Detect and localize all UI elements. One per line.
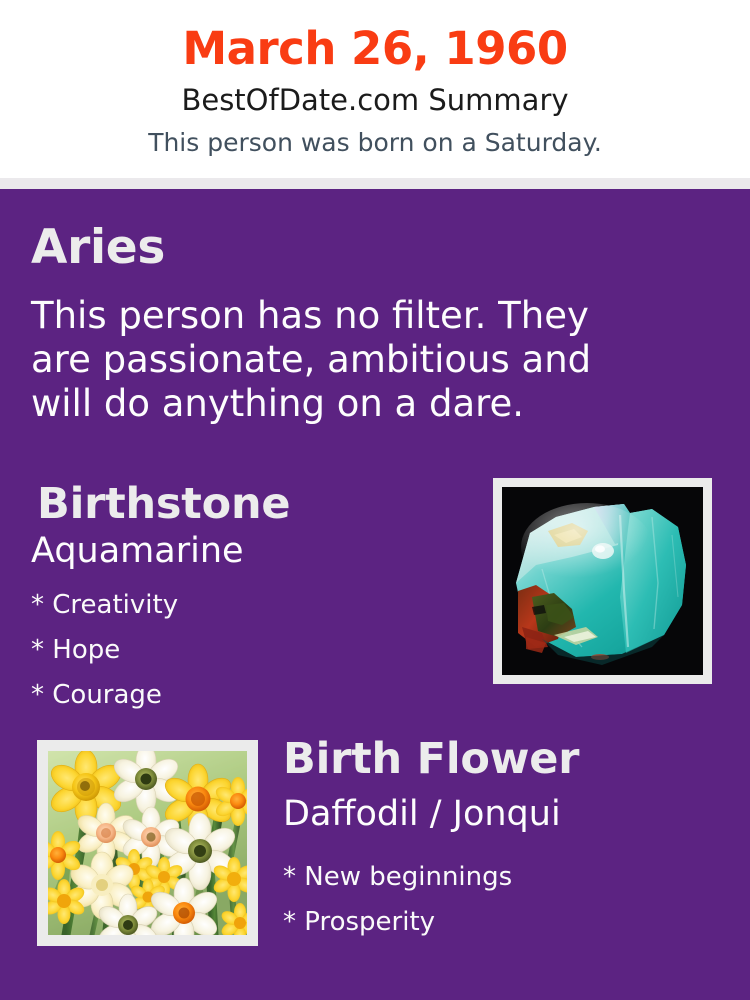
birthstone-trait-list: * Creativity * Hope * Courage bbox=[31, 583, 451, 718]
birthstone-photo-frame bbox=[493, 478, 712, 684]
list-item: * Courage bbox=[31, 673, 451, 718]
weekday-statement: This person was born on a Saturday. bbox=[0, 130, 750, 155]
list-item: * New beginnings bbox=[283, 855, 723, 900]
zodiac-sign-heading: Aries bbox=[31, 224, 165, 271]
birth-flower-heading: Birth Flower bbox=[283, 738, 579, 781]
aquamarine-crystal-icon bbox=[502, 487, 703, 675]
header-divider bbox=[0, 178, 750, 189]
page-title-date: March 26, 1960 bbox=[0, 26, 750, 71]
site-name-subtitle: BestOfDate.com Summary bbox=[0, 86, 750, 115]
birthstone-heading: Birthstone bbox=[37, 483, 290, 526]
zodiac-description: This person has no filter. They are pass… bbox=[31, 294, 651, 426]
birthday-summary-card: March 26, 1960 BestOfDate.com Summary Th… bbox=[0, 0, 750, 1000]
birth-flower-name: Daffodil / Jonqui bbox=[283, 797, 561, 832]
daffodil-flowers-icon bbox=[48, 751, 247, 935]
birthstone-photo bbox=[502, 487, 703, 675]
list-item: * Prosperity bbox=[283, 900, 723, 945]
list-item: * Creativity bbox=[31, 583, 451, 628]
birth-flower-photo bbox=[48, 751, 247, 935]
birth-flower-trait-list: * New beginnings * Prosperity bbox=[283, 855, 723, 945]
birthstone-name: Aquamarine bbox=[31, 534, 244, 569]
birth-flower-photo-frame bbox=[37, 740, 258, 946]
header-banner: March 26, 1960 BestOfDate.com Summary Th… bbox=[0, 0, 750, 178]
list-item: * Hope bbox=[31, 628, 451, 673]
